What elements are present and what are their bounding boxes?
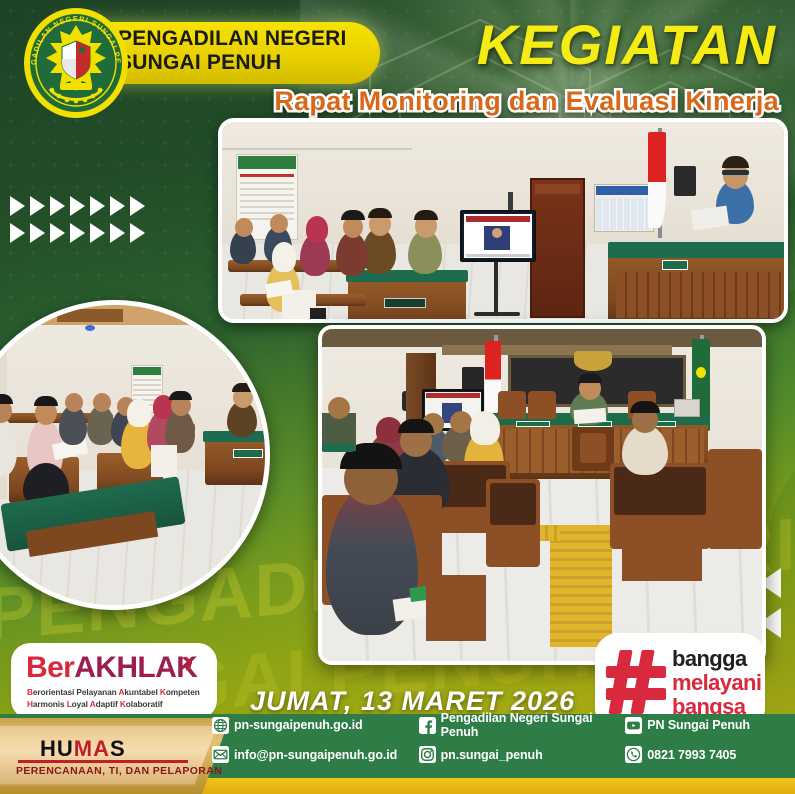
arrow-right-icon [50,196,65,216]
contact-youtube-label: PN Sungai Penuh [647,718,750,732]
contact-facebook[interactable]: Pengadilan Negeri Sungai Penuh [419,711,626,739]
hashtag-icon [606,648,668,716]
page-title: KEGIATAN [477,12,777,77]
arrow-right-icon [10,196,25,216]
contact-whatsapp-label: 0821 7993 7405 [647,748,736,762]
arrow-right-icon [70,196,85,216]
bangga-line-1: bangga [672,646,747,672]
instagram-icon [419,746,436,763]
youtube-icon [625,717,642,734]
contact-row: info@pn-sungaipenuh.go.id pn.sungai_penu… [212,746,787,763]
humas-s: S [110,736,126,761]
contact-website-label: pn-sungaipenuh.go.id [234,718,363,732]
berakhlak-values-line-1: Berorientasi Pelayanan Akuntabel Kompete… [27,686,207,698]
institution-line-2: SUNGAI PENUH [118,51,368,75]
contact-facebook-label: Pengadilan Negeri Sungai Penuh [441,711,626,739]
photo-top [218,118,788,323]
contact-instagram[interactable]: pn.sungai_penuh [419,746,626,763]
arrow-right-icon [30,223,45,243]
berakhlak-logo: BerAKHLAK › Berorientasi Pelayanan Akunt… [16,648,212,714]
contact-youtube[interactable]: PN Sungai Penuh [625,717,787,734]
arrow-right-icon [10,223,25,243]
whatsapp-icon [625,746,642,763]
humas-hu: HU [40,736,74,761]
arrow-right-icon [50,223,65,243]
berakhlak-values-line-2: Harmonis Loyal Adaptif Kolaboratif [27,698,207,710]
arrow-row [10,196,145,216]
arrow-right-icon [90,196,105,216]
berakhlak-wordmark: BerAKHLAK [26,651,197,685]
contact-website[interactable]: pn-sungaipenuh.go.id [212,717,419,734]
humas-ma: MA [74,736,110,761]
contact-list: pn-sungaipenuh.go.id Pengadilan Negeri S… [212,711,787,770]
institution-line-1: PENGADILAN NEGERI [118,27,368,51]
berakhlak-ber: Ber [26,651,74,684]
contact-row: pn-sungaipenuh.go.id Pengadilan Negeri S… [212,711,787,739]
arrow-right-icon [130,196,145,216]
contact-whatsapp[interactable]: 0821 7993 7405 [625,746,787,763]
arrow-right-icon [130,223,145,243]
berakhlak-akhlak: AKHLAK [74,651,197,684]
arrow-right-icon [110,223,125,243]
email-icon [212,746,229,763]
contact-instagram-label: pn.sungai_penuh [441,748,543,762]
arrow-right-icon [30,196,45,216]
globe-icon [212,717,229,734]
humas-subtitle: PERENCANAAN, TI, DAN PELAPORAN [16,765,222,777]
decorative-arrows-left [10,196,145,250]
arrow-row [10,223,145,243]
berakhlak-values: Berorientasi Pelayanan Akuntabel Kompete… [27,686,207,710]
photo-main [318,325,766,665]
humas-title: HUMAS [40,736,126,762]
arrow-right-icon [90,223,105,243]
institution-name-text: PENGADILAN NEGERI SUNGAI PENUH [118,27,368,75]
humas-divider [18,760,188,763]
bangga-line-2: melayani [672,670,761,696]
arrow-right-icon [110,196,125,216]
arrow-right-icon [70,223,85,243]
contact-email[interactable]: info@pn-sungaipenuh.go.id [212,746,419,763]
poster-canvas: PENGADILAN NEGERI SUNGAI PENUH PENGADILA… [0,0,795,794]
contact-email-label: info@pn-sungaipenuh.go.id [234,748,397,762]
facebook-icon [419,717,436,734]
photo-circle [0,300,270,610]
subtitle-line-1: Rapat Monitoring dan Evaluasi Kinerja [139,84,779,120]
court-seal-logo-icon: PENGADILAN NEGERI SUNGAI PENUH [22,5,130,120]
